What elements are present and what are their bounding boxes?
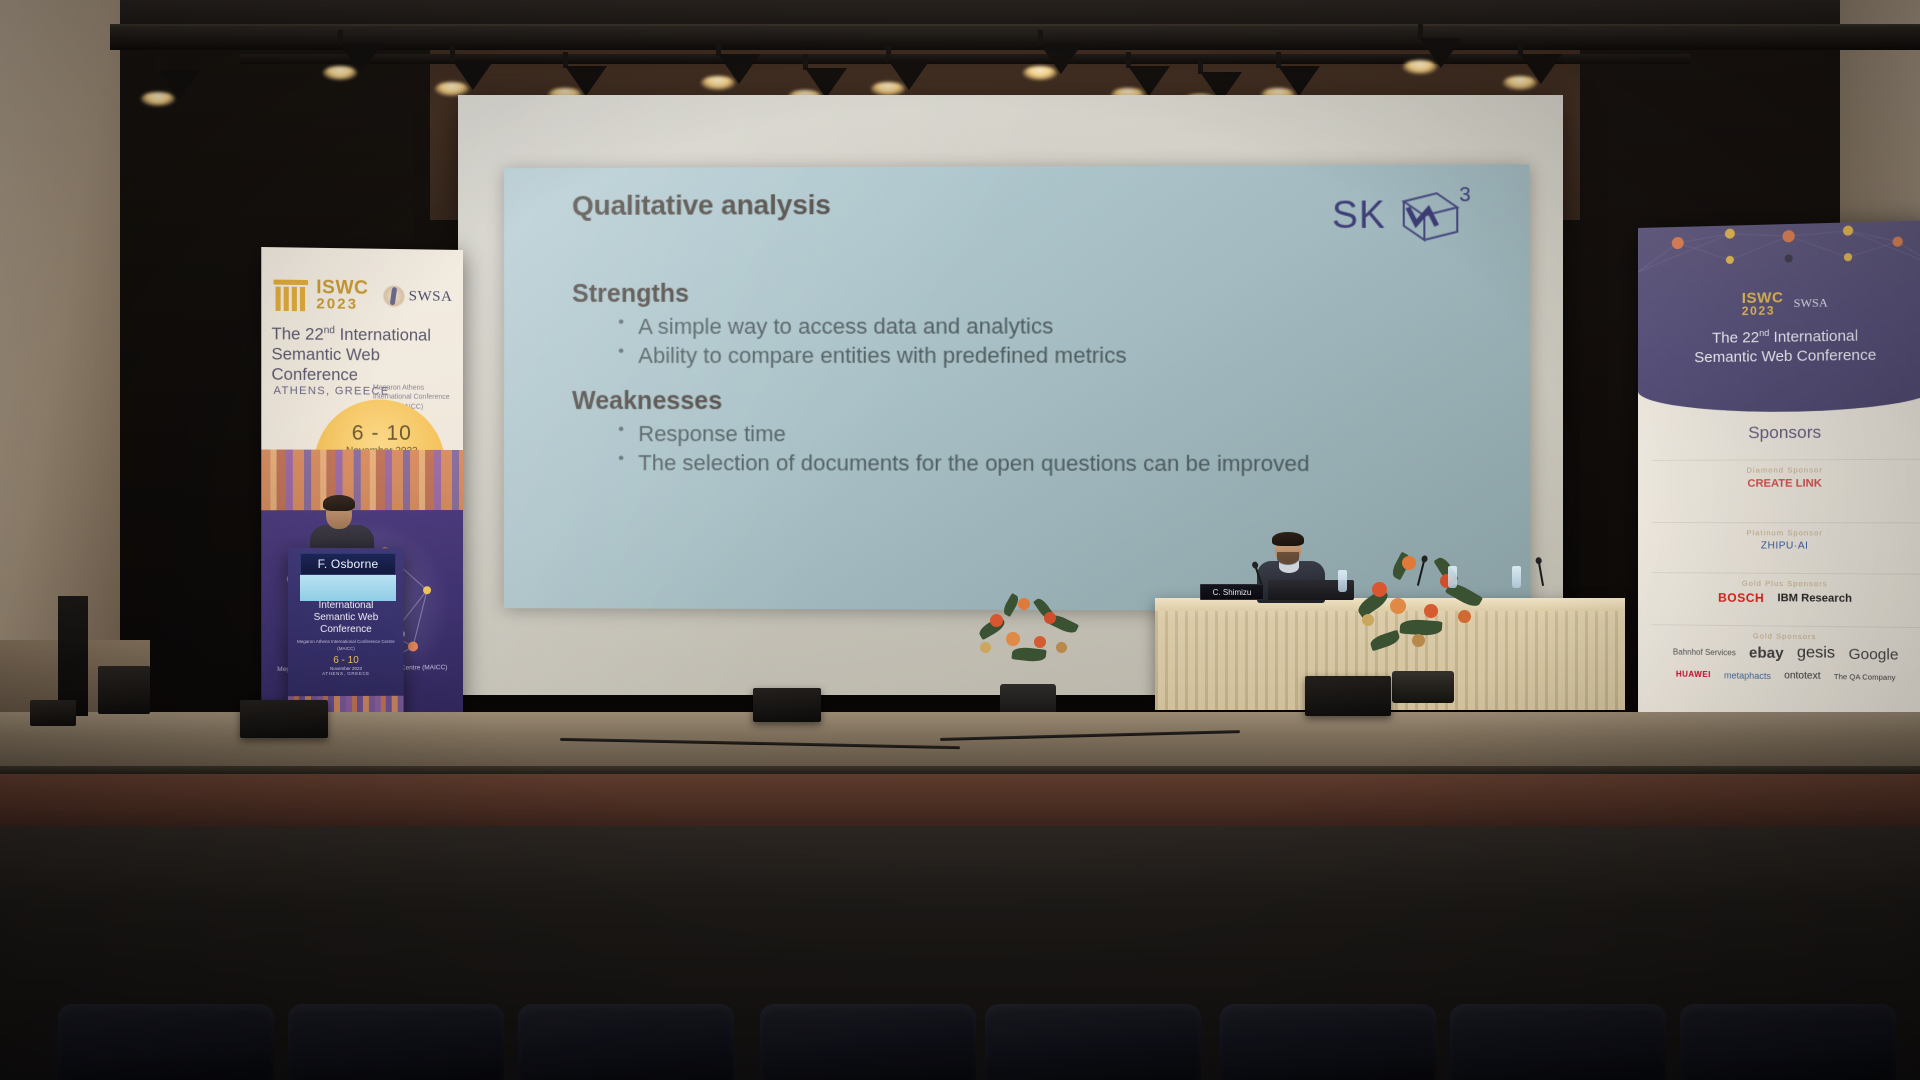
stage-front-panel [0,774,1920,832]
panelist-nameplate: C. Shimizu [1200,584,1264,600]
lectern-title-1: International [318,600,373,611]
sponsor-logo-ebay: ebay [1749,644,1784,662]
title-ordinal: nd [324,325,335,336]
svg-text:3: 3 [1459,184,1470,206]
speaker-nameplate: F. Osborne [300,553,396,575]
date-range: 6 - 10 [322,421,441,446]
stage-monitor [240,700,328,738]
title-part-1: The 22 [271,325,323,344]
lectern-venue: Megaron Athens International Conference … [288,639,404,653]
lectern-city: ATHENS, GREECE [288,671,404,676]
lectern-title: International Semantic Web Conference [288,600,404,636]
lectern-title-2: Semantic Web [314,612,379,623]
lectern-confidence-monitor [300,575,396,601]
seat [985,1004,1201,1080]
water-bottle [1338,570,1347,592]
sponsor-logo-zhipu: ZHIPU·AI [1761,540,1809,551]
network-graphic-top [1638,220,1920,290]
flower-arrangement-center [960,592,1100,722]
swsa-label: SWSA [409,288,453,306]
sponsor-tier-gold-plus: Gold Plus Sponsors BOSCH IBM Research [1638,578,1920,607]
lectern-dates: 6 - 10 November 2023 [288,655,404,671]
vase [1392,671,1454,703]
stage-equipment [98,666,150,714]
swsa-logo: SWSA [383,285,453,308]
sponsor-logo-metaphacts: metaphacts [1724,670,1771,681]
swsa-label-right: SWSA [1794,295,1828,311]
banner-conference-title: The 22nd International Semantic Web Conf… [271,324,458,386]
right-title-1: The 22 [1712,329,1759,347]
iswc-year-right: 2023 [1742,305,1784,317]
speaker-name: F. Osborne [318,557,379,571]
sponsors-banner-logo-row: ISWC 2023 SWSA [1638,288,1920,318]
panelist-name: C. Shimizu [1213,588,1252,597]
sponsor-logo-ibm: IBM Research [1777,592,1851,605]
sponsors-banner-title: The 22nd International Semantic Web Conf… [1638,325,1920,368]
presentation-slide: Qualitative analysis SK 3 Strengths A si [504,165,1530,612]
weaknesses-list: Response time The selection of documents… [616,419,1445,479]
title-line-2: Semantic Web Conference [271,345,379,384]
slide-body: Strengths A simple way to access data an… [572,274,1445,478]
iswc-wordmark: ISWC 2023 [316,279,368,311]
seat [58,1004,274,1080]
list-item: Response time [616,419,1445,449]
sponsor-tier-gold: Gold Sponsors Bahnhof Services ebay gesi… [1638,630,1920,684]
list-item: Ability to compare entities with predefi… [616,341,1445,371]
tier-label: Platinum Sponsor [1638,528,1920,538]
sponsors-banner: ISWC 2023 SWSA The 22nd International Se… [1638,220,1920,796]
seat [288,1004,504,1080]
sponsor-logo-gesis: gesis [1797,644,1835,663]
banner-top-section: ISWC 2023 SWSA The 22nd International Se… [261,247,463,480]
list-item: A simple way to access data and analytic… [616,311,1445,341]
swsa-mark-icon [383,285,405,307]
sponsor-logo-bosch: BOSCH [1718,591,1764,606]
seat [518,1004,734,1080]
sponsor-tier-platinum: Platinum Sponsor ZHIPU·AI [1638,528,1920,552]
list-item: The selection of documents for the open … [616,448,1445,478]
svg-text:SK: SK [1332,194,1386,237]
banner-logo-row: ISWC 2023 SWSA [273,273,455,317]
sponsor-logo-createlink: CREATE LINK [1747,477,1821,489]
section-heading-weaknesses: Weaknesses [572,386,1445,415]
slide-title: Qualitative analysis [572,189,831,222]
seat [1220,1004,1436,1080]
sponsors-banner-header: ISWC 2023 SWSA The 22nd International Se… [1638,220,1920,413]
sponsor-logo-huawei: HUAWEI [1676,670,1711,680]
stage-equipment [30,700,76,726]
iswc-year: 2023 [316,297,368,311]
stage-monitor [753,688,821,722]
sponsor-logo-qa-company: The QA Company [1834,672,1896,682]
iswc-wordmark-right: ISWC 2023 [1742,291,1784,316]
right-title-3: Semantic Web Conference [1694,346,1876,366]
skm3-logo-icon: SK 3 [1330,181,1484,244]
title-part-2: International [335,326,431,345]
right-title-2: International [1769,327,1858,346]
sponsor-logo-bahnhof: Bahnhof Services [1673,647,1736,657]
auditorium-photo: Qualitative analysis SK 3 Strengths A si [0,0,1920,1080]
strengths-list: A simple way to access data and analytic… [616,311,1445,371]
water-bottle [1448,566,1457,588]
tier-label: Gold Plus Sponsors [1638,578,1920,589]
stage-monitor [1305,676,1391,716]
water-bottle [1512,566,1521,588]
section-heading-strengths: Strengths [572,278,1445,309]
lectern-title-3: Conference [320,624,372,635]
tier-label: Gold Sponsors [1638,630,1920,643]
seat [760,1004,976,1080]
pa-speaker-cabinet [58,596,88,716]
sponsor-tier-diamond: Diamond Sponsor CREATE LINK [1638,465,1920,490]
seat [1680,1004,1896,1080]
tier-label: Diamond Sponsor [1638,465,1920,475]
seat [1450,1004,1666,1080]
audience-seating [0,826,1920,1080]
sponsor-logo-ontotext: ontotext [1784,670,1820,682]
lectern-date-range: 6 - 10 [333,655,359,666]
iswc-column-icon [273,278,308,313]
sponsors-heading: Sponsors [1638,422,1920,444]
sponsor-logo-google: Google [1848,645,1898,663]
right-title-ordinal: nd [1759,328,1769,338]
